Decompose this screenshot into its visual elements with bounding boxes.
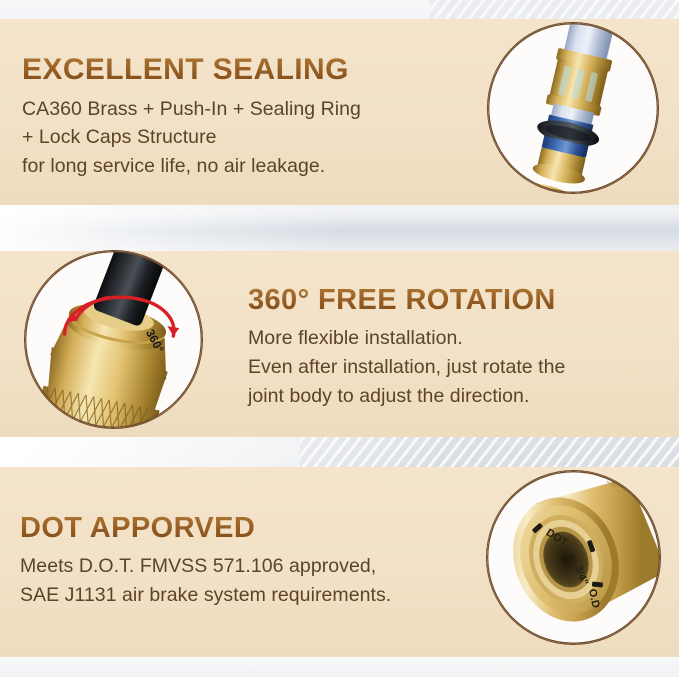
- rotating-joint-photo: 360° Brass knurled joint body with black…: [24, 250, 203, 429]
- dot-marking-photo: DOT A 3/4" O.D Brass fitting end face en…: [486, 470, 661, 645]
- feature-text-dot-approved: DOT APPORVED Meets D.O.T. FMVSS 571.106 …: [20, 513, 480, 610]
- feature-heading-excellent-sealing: EXCELLENT SEALING: [22, 54, 462, 86]
- feature-line: + Lock Caps Structure: [22, 123, 462, 152]
- feature-line: joint body to adjust the direction.: [248, 382, 668, 411]
- feature-text-excellent-sealing: EXCELLENT SEALING CA360 Brass + Push-In …: [22, 54, 462, 180]
- feature-line: CA360 Brass + Push-In + Sealing Ring: [22, 95, 462, 124]
- feature-line: for long service life, no air leakage.: [22, 152, 462, 181]
- sealing-ring-assembly-photo: Cutaway of brass push-in fitting with bl…: [487, 22, 659, 194]
- feature-text-free-rotation: 360° FREE ROTATION More flexible install…: [248, 285, 668, 410]
- feature-heading-dot-approved: DOT APPORVED: [20, 513, 480, 543]
- infographic-page: EXCELLENT SEALING CA360 Brass + Push-In …: [0, 0, 679, 677]
- feature-line: More flexible installation.: [248, 324, 668, 353]
- feature-line: Meets D.O.T. FMVSS 571.106 approved,: [20, 552, 480, 581]
- feature-heading-free-rotation: 360° FREE ROTATION: [248, 285, 668, 315]
- feature-line: SAE J1131 air brake system requirements.: [20, 581, 480, 610]
- feature-line: Even after installation, just rotate the: [248, 353, 668, 382]
